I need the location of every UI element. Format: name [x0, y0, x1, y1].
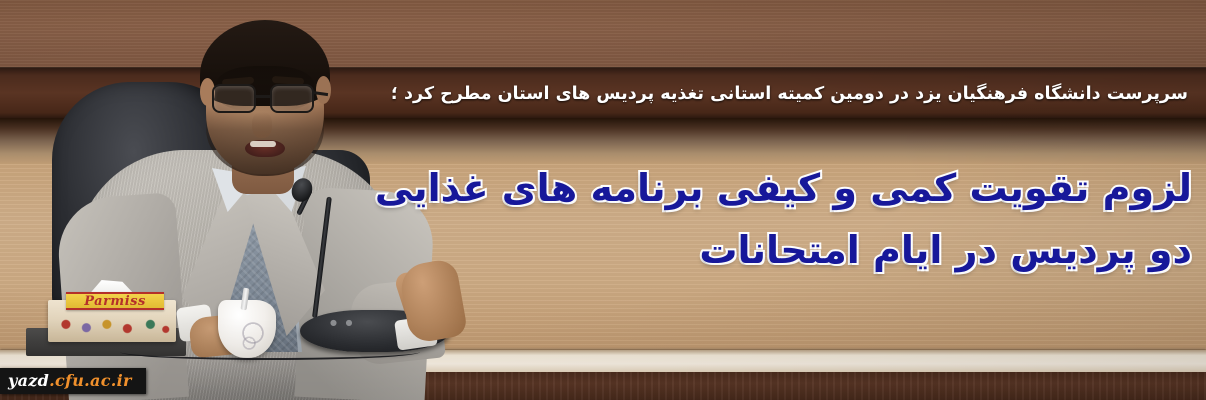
eyeglasses [212, 84, 318, 114]
watermark-site-name: yazd [8, 371, 49, 390]
lens-right [270, 84, 314, 113]
site-watermark: yazd.cfu.ac.ir [0, 368, 146, 394]
desk-cable [120, 344, 420, 360]
nose [252, 112, 272, 138]
kicker-text: سرپرست دانشگاه فرهنگیان یزد در دومین کمی… [388, 78, 1188, 110]
microphone-base-marking: ● ● [330, 318, 356, 327]
headline: لزوم تقویت کمی و کیفی برنامه های غذایی د… [432, 158, 1192, 281]
ear-right [316, 76, 331, 104]
headline-line-1: لزوم تقویت کمی و کیفی برنامه های غذایی [432, 158, 1192, 220]
tissue-box-brand-label: Parmiss [66, 292, 164, 310]
news-banner-image: ● ● Parmiss سرپرست دانشگاه فرهنگیان یزد … [0, 0, 1206, 400]
glasses-bridge [256, 95, 272, 98]
headline-line-2: دو پردیس در ایام امتحانات [432, 220, 1192, 282]
lens-left [212, 84, 256, 113]
teeth [250, 141, 276, 147]
watermark-domain-suffix: .cfu.ac.ir [49, 371, 132, 390]
